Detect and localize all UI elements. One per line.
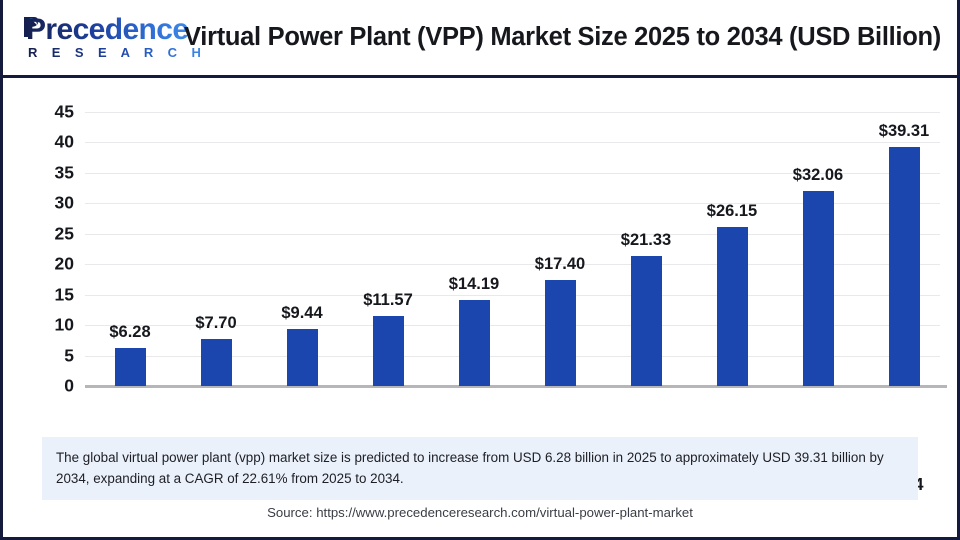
bar-2030[interactable] bbox=[545, 280, 576, 386]
bar-2033[interactable] bbox=[803, 191, 834, 386]
bar-2034[interactable] bbox=[889, 147, 920, 386]
bar-2026[interactable] bbox=[201, 339, 232, 386]
bar-value-label-2030: $17.40 bbox=[505, 255, 615, 274]
y-axis-tick-label: 35 bbox=[28, 162, 74, 183]
bar-2032[interactable] bbox=[717, 227, 748, 386]
bar-value-label-2033: $32.06 bbox=[763, 166, 873, 185]
chart-infographic: Precedence R E S E A R C H Virtual Power… bbox=[0, 0, 960, 540]
y-axis-tick-label: 20 bbox=[28, 254, 74, 275]
bar-2027[interactable] bbox=[287, 329, 318, 386]
bar-2029[interactable] bbox=[459, 300, 490, 386]
bar-2025[interactable] bbox=[115, 348, 146, 386]
page-title: Virtual Power Plant (VPP) Market Size 20… bbox=[175, 0, 950, 75]
y-axis-tick-label: 0 bbox=[28, 376, 74, 397]
bar-value-label-2029: $14.19 bbox=[419, 275, 529, 294]
bar-value-label-2034: $39.31 bbox=[849, 122, 959, 141]
logo-wordmark: Precedence bbox=[26, 14, 188, 46]
y-axis-tick-label: 25 bbox=[28, 223, 74, 244]
y-axis-tick-label: 45 bbox=[28, 102, 74, 123]
summary-caption: The global virtual power plant (vpp) mar… bbox=[42, 437, 918, 500]
chart-plot-area: 051015202530354045 $6.28$7.70$9.44$11.57… bbox=[0, 78, 960, 428]
source-attribution: Source: https://www.precedenceresearch.c… bbox=[0, 505, 960, 520]
y-axis-tick-label: 10 bbox=[28, 315, 74, 336]
bar-value-label-2032: $26.15 bbox=[677, 202, 787, 221]
y-axis-tick-label: 30 bbox=[28, 193, 74, 214]
y-axis-tick-label: 5 bbox=[28, 345, 74, 366]
bar-2031[interactable] bbox=[631, 256, 662, 386]
bar-2028[interactable] bbox=[373, 316, 404, 386]
header: Precedence R E S E A R C H Virtual Power… bbox=[0, 0, 960, 75]
precedence-research-logo: Precedence R E S E A R C H bbox=[16, 12, 166, 64]
y-axis-tick-label: 15 bbox=[28, 284, 74, 305]
gridline bbox=[85, 142, 940, 143]
gridline bbox=[85, 112, 940, 113]
bar-value-label-2031: $21.33 bbox=[591, 231, 701, 250]
y-axis-tick-label: 40 bbox=[28, 132, 74, 153]
